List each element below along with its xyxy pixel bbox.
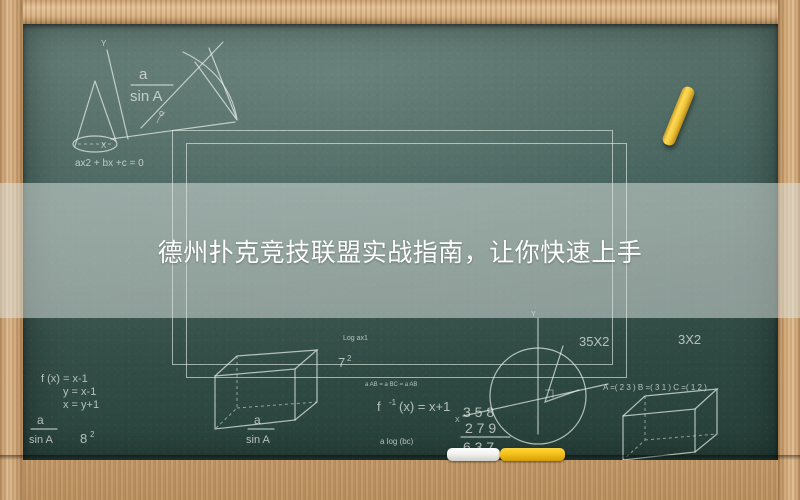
title-overlay-band: 德州扑克竞技联盟实战指南，让你快速上手 xyxy=(0,183,800,318)
label-3x2: 3X2 xyxy=(678,332,701,347)
white-chalk-icon xyxy=(447,448,500,461)
formula-a-num-2: a xyxy=(37,413,44,427)
formula-fx-3: x = y+1 xyxy=(63,399,99,411)
formula-a-num-3: a xyxy=(254,413,261,427)
formula-eight: 8 xyxy=(80,431,87,446)
circle-axis-x: X xyxy=(455,417,460,424)
formula-quadratic: ax2 + bx +c = 0 xyxy=(75,158,144,169)
formula-sin-a-3: sin A xyxy=(246,434,271,446)
formula-small-eq: a AB = a BC = a AB xyxy=(365,382,417,388)
function-equations: f (x) = x-1 y = x-1 x = y+1 xyxy=(41,373,99,411)
frame-top xyxy=(0,0,800,24)
formula-alog: a log (bc) xyxy=(380,437,414,446)
cone-drawing xyxy=(73,81,117,152)
formula-sin-a: sin A xyxy=(130,88,163,105)
label-matrices: A =( 2 3 ) B =( 3 1 ) C =( 1 2 ) xyxy=(603,383,707,392)
formula-fx-1: f (x) = x-1 xyxy=(41,373,88,385)
yellow-chalk-icon xyxy=(500,448,565,461)
formula-eight-exp: 2 xyxy=(90,430,95,439)
formula-fx-2: y = x-1 xyxy=(63,386,96,398)
page-title: 德州扑克竞技联盟实战指南，让你快速上手 xyxy=(0,233,800,269)
formula-inverse-exp: -1 xyxy=(389,398,397,407)
blackboard-banner: a sin A ax2 + bx +c = 0 Y X o f (x) = x- xyxy=(0,0,800,500)
angle-label: o xyxy=(159,108,164,118)
formula-a-numerator: a xyxy=(139,66,148,83)
axis-label-y: Y xyxy=(101,39,107,48)
formula-inverse-fx: f xyxy=(377,399,381,414)
formula-inverse-rest: (x) = x+1 xyxy=(399,399,450,414)
arith-line-2: 2 7 9 xyxy=(465,420,496,436)
formula-sin-a-2: sin A xyxy=(29,434,54,446)
axis-label-x: X xyxy=(101,141,107,150)
chalk-ledge-lip xyxy=(0,491,800,500)
cube-right xyxy=(623,389,717,460)
